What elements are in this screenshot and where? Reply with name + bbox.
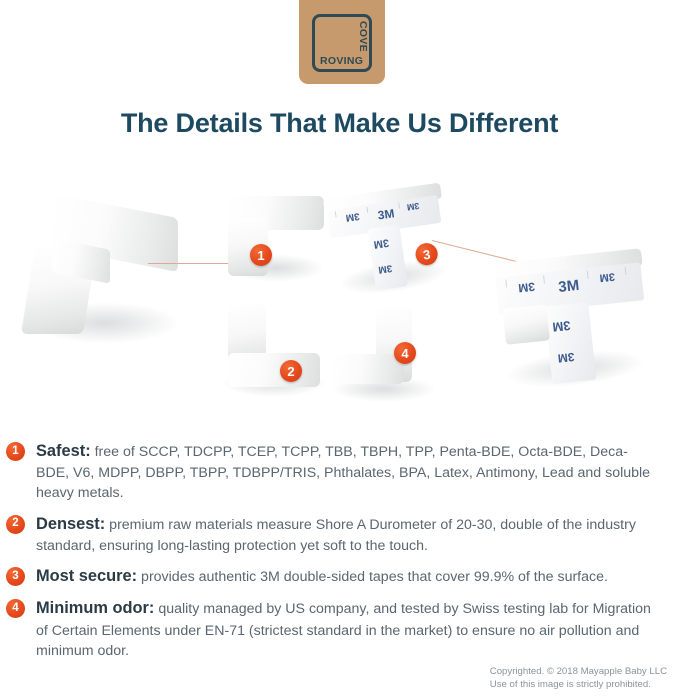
feature-text-4: Minimum odor: quality managed by US comp… (36, 597, 679, 661)
brand-logo: ROVING COVE (299, 0, 385, 84)
feature-body-1: free of SCCP, TDCPP, TCEP, TCPP, TBB, TB… (36, 444, 650, 501)
feature-lead-2: Densest: (36, 515, 105, 533)
feature-body-2: premium raw materials measure Shore A Du… (36, 517, 636, 554)
product-guard-3-tape: 3M 3M 3M 3M 3M 3 (323, 182, 459, 308)
feature-item-2: 2 Densest: premium raw materials measure… (0, 513, 679, 556)
feature-item-1: 1 Safest: free of SCCP, TDCPP, TCEP, TCP… (0, 440, 679, 504)
feature-list: 1 Safest: free of SCCP, TDCPP, TCEP, TCP… (0, 440, 679, 670)
copyright-line-1: Copyrighted. © 2018 Mayapple Baby LLC (490, 665, 667, 678)
feature-badge-1: 1 (6, 442, 25, 461)
copyright-notice: Copyrighted. © 2018 Mayapple Baby LLC Us… (490, 665, 667, 691)
feature-lead-4: Minimum odor: (36, 599, 154, 617)
product-guard-1: 1 (228, 196, 324, 278)
logo-word-cove: COVE (358, 21, 369, 52)
photo-marker-2: 2 (280, 360, 302, 382)
page-title: The Details That Make Us Different (0, 108, 679, 139)
feature-lead-1: Safest: (36, 442, 91, 460)
feature-lead-3: Most secure: (36, 567, 137, 585)
product-guard-large-tape: 3M 3M 3M 3M 3M (484, 248, 657, 394)
logo-frame: ROVING COVE (312, 14, 372, 72)
feature-badge-3: 3 (6, 567, 25, 586)
copyright-line-2: Use of this image is strictly prohibited… (490, 678, 667, 691)
tape-face-large-side: 3M 3M (544, 302, 596, 384)
feature-badge-4: 4 (6, 599, 25, 618)
photo-marker-1: 1 (250, 244, 272, 266)
infographic-page: ROVING COVE The Details That Make Us Dif… (0, 0, 679, 699)
feature-text-2: Densest: premium raw materials measure S… (36, 513, 679, 556)
product-guard-4: 4 (332, 306, 432, 398)
logo-word-roving: ROVING (320, 56, 363, 67)
photo-marker-4: 4 (394, 342, 416, 364)
feature-item-4: 4 Minimum odor: quality managed by US co… (0, 597, 679, 661)
product-guard-2: 2 (222, 303, 322, 393)
product-showcase: 1 2 3M 3M 3M 3M 3M 3 (0, 178, 679, 423)
feature-text-3: Most secure: provides authentic 3M doubl… (36, 565, 679, 588)
product-guard-large (28, 206, 178, 341)
feature-badge-2: 2 (6, 515, 25, 534)
feature-text-1: Safest: free of SCCP, TDCPP, TCEP, TCPP,… (36, 440, 679, 504)
feature-item-3: 3 Most secure: provides authentic 3M dou… (0, 565, 679, 588)
feature-body-3: provides authentic 3M double-sided tapes… (137, 569, 608, 585)
